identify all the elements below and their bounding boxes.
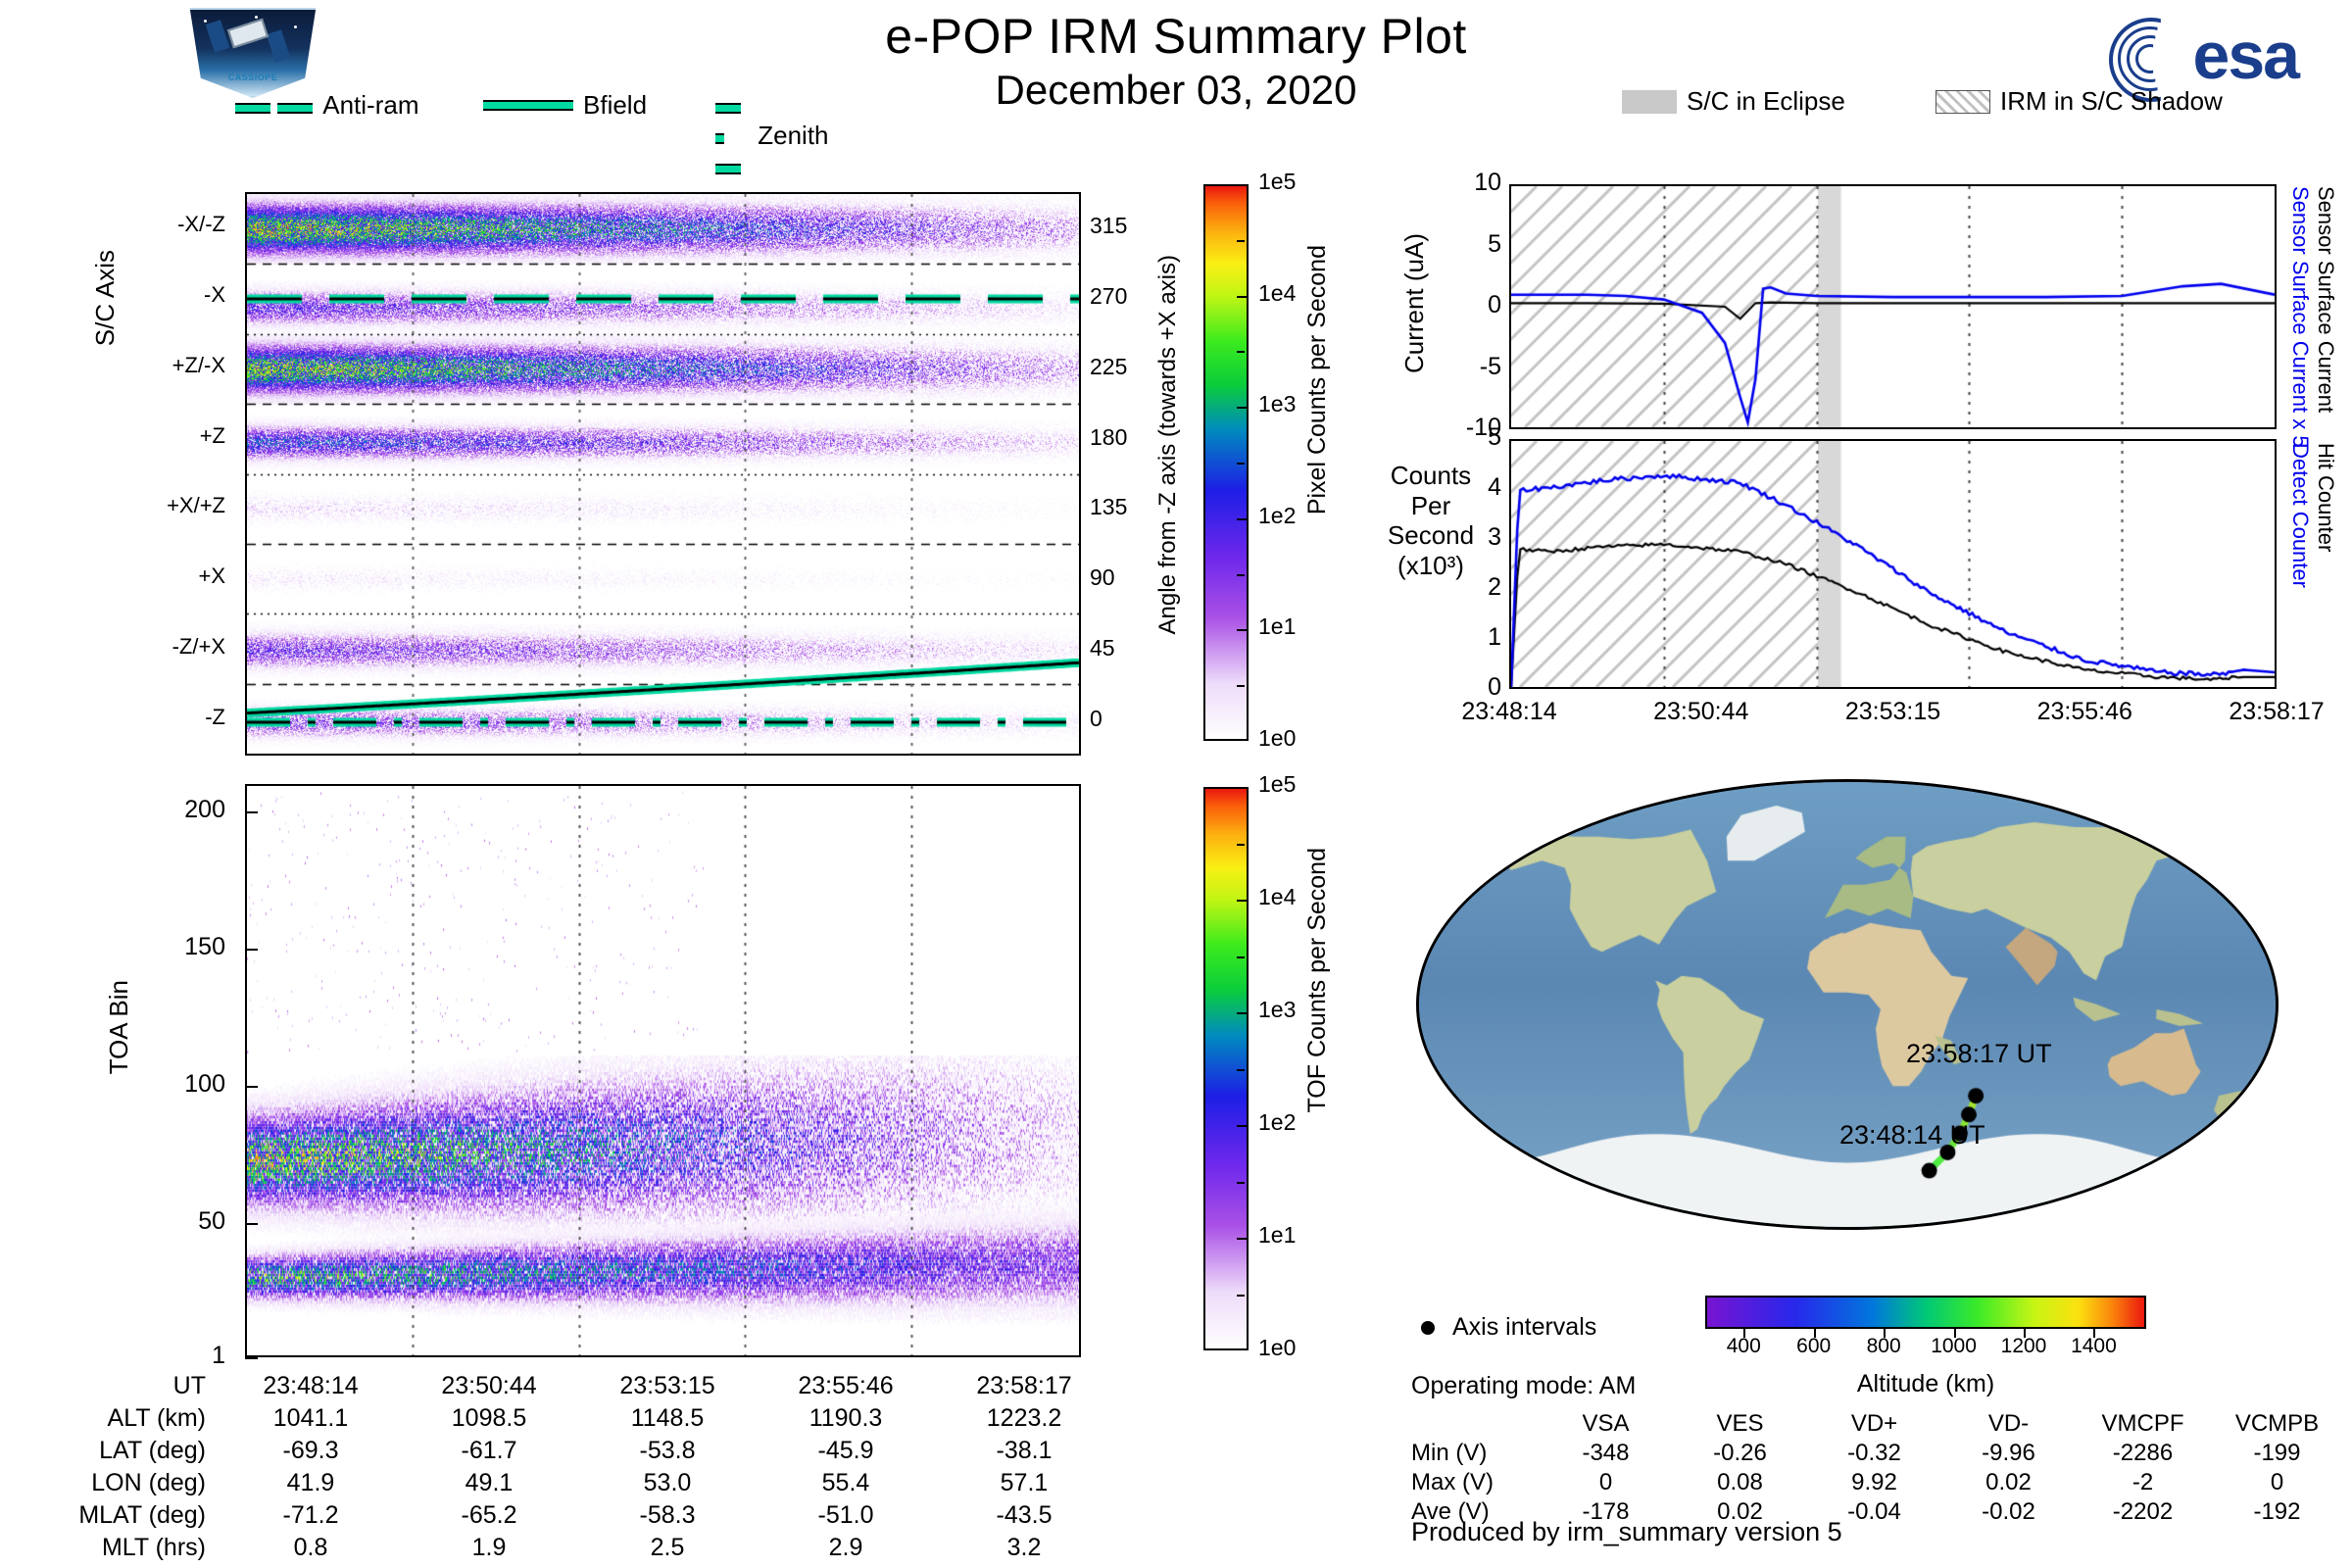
colorbar-tick-label: 1e2 xyxy=(1258,1109,1296,1136)
voltage-header-row: VSAVESVD+VD-VMCPFVCMPB xyxy=(1411,1409,2344,1439)
sc-axis-ytick-label: +X xyxy=(29,563,225,589)
legend-item-irm-shadow: IRM in S/C Shadow xyxy=(1935,86,2223,117)
sc-axis-right-tick-label: 270 xyxy=(1090,283,1149,310)
voltage-cell: 0 xyxy=(1539,1468,1673,1497)
altitude-tick-label: 1000 xyxy=(1925,1335,1984,1358)
dashdot-line-icon xyxy=(715,90,748,181)
current-ytick-label: 10 xyxy=(1411,169,1501,197)
voltage-cell: -2202 xyxy=(2076,1497,2210,1527)
toa-bin-ytick-label: 50 xyxy=(59,1207,225,1236)
ephemeris-cell: -43.5 xyxy=(935,1499,1113,1532)
ephemeris-cell: -45.9 xyxy=(757,1435,935,1467)
counts-ytick-label: 1 xyxy=(1423,623,1501,652)
toa-bin-spectrogram[interactable] xyxy=(245,784,1081,1357)
patch-caption: CASSIOPE xyxy=(186,73,319,82)
altitude-tick-label: 1200 xyxy=(1994,1335,2053,1358)
legend-label-eclipse: S/C in Eclipse xyxy=(1687,86,1845,117)
solid-line-icon xyxy=(483,100,573,111)
colorbar-minor-tick xyxy=(1237,351,1245,353)
colorbar-tick-label: 1e5 xyxy=(1258,771,1296,798)
colorbar-tick-label: 1e4 xyxy=(1258,280,1296,307)
sc-axis-right-tick-label: 135 xyxy=(1090,494,1149,520)
ephemeris-cell: -71.2 xyxy=(221,1499,400,1532)
ephemeris-row-label: ALT (km) xyxy=(20,1402,221,1435)
pixel-counts-colorbar-label: Pixel Counts per Second xyxy=(1303,245,1332,514)
altitude-tick-label: 800 xyxy=(1854,1335,1913,1358)
toa-bin-ytick-label: 100 xyxy=(59,1070,225,1099)
toa-bin-ytick-label: 150 xyxy=(59,933,225,961)
ephemeris-cell: 23:58:17 xyxy=(935,1370,1113,1402)
ephemeris-cell: 1041.1 xyxy=(221,1402,400,1435)
colorbar-tick-label: 1e1 xyxy=(1258,613,1296,640)
altitude-colorbar xyxy=(1705,1296,2146,1329)
voltage-cell: 0.02 xyxy=(1941,1468,2076,1497)
voltage-row: Min (V)-348-0.26-0.32-9.96-2286-199 xyxy=(1411,1439,2344,1468)
ephemeris-cell: 1148.5 xyxy=(578,1402,757,1435)
ephemeris-row-label: MLAT (deg) xyxy=(20,1499,221,1532)
voltage-cell: -348 xyxy=(1539,1439,1673,1468)
ephemeris-cell: -53.8 xyxy=(578,1435,757,1467)
counts-ytick-label: 2 xyxy=(1423,573,1501,602)
counts-ytick-label: 5 xyxy=(1423,423,1501,452)
toa-bin-ytick-label: 1 xyxy=(59,1342,225,1370)
legend-label-anti-ram: Anti-ram xyxy=(322,90,418,121)
altitude-colorbar-label: Altitude (km) xyxy=(1705,1370,2146,1398)
ephemeris-cell: -61.7 xyxy=(400,1435,578,1467)
shadow-swatch-icon xyxy=(1935,90,1990,114)
voltage-column-header: VMCPF xyxy=(2076,1409,2210,1439)
colorbar-minor-tick xyxy=(1237,574,1245,576)
voltage-cell: -9.96 xyxy=(1941,1439,2076,1468)
ephemeris-row: UT23:48:1423:50:4423:53:1523:55:4623:58:… xyxy=(20,1370,1113,1402)
altitude-tick-mark xyxy=(1814,1329,1816,1338)
map-end-time-label: 23:58:17 UT xyxy=(1906,1039,2052,1069)
ephemeris-row-label: MLT (hrs) xyxy=(20,1532,221,1564)
legend-item-zenith: Zenith xyxy=(715,90,829,181)
legend-item-anti-ram: Anti-ram xyxy=(235,90,418,121)
ephemeris-cell: 1.9 xyxy=(400,1532,578,1564)
counts-plot[interactable] xyxy=(1509,439,2277,689)
ephemeris-cell: 49.1 xyxy=(400,1467,578,1499)
cassiope-mission-patch: CASSIOPE xyxy=(184,8,321,98)
operating-mode-label: Operating mode: AM xyxy=(1411,1372,1636,1400)
voltage-table: VSAVESVD+VD-VMCPFVCMPBMin (V)-348-0.26-0… xyxy=(1411,1409,2344,1527)
voltage-row-label: Max (V) xyxy=(1411,1468,1539,1497)
colorbar-tick-label: 1e3 xyxy=(1258,997,1296,1023)
voltage-cell: 0.08 xyxy=(1673,1468,1807,1497)
toa-bin-tick-mark xyxy=(245,811,258,813)
legend-orientation: Anti-ram Bfield Zenith xyxy=(235,90,784,123)
ephemeris-cell: -65.2 xyxy=(400,1499,578,1532)
colorbar-tick-mark xyxy=(1237,900,1248,902)
ephemeris-cell: 2.9 xyxy=(757,1532,935,1564)
colorbar-tick-label: 1e5 xyxy=(1258,169,1296,195)
toa-bin-tick-mark xyxy=(245,1223,258,1225)
current-right-label-blue: Sensor Surface Current x 5 xyxy=(2287,186,2313,448)
altitude-tick-mark xyxy=(1743,1329,1745,1338)
toa-bin-ylabel: TOA Bin xyxy=(104,980,134,1074)
counts-right-label-black: Hit Counter xyxy=(2313,443,2338,552)
voltage-row-label: Min (V) xyxy=(1411,1439,1539,1468)
dot-icon xyxy=(1421,1321,1435,1335)
legend-label-zenith: Zenith xyxy=(758,121,828,151)
colorbar-tick-label: 1e1 xyxy=(1258,1222,1296,1249)
sc-axis-ytick-label: +X/+Z xyxy=(29,493,225,518)
toa-bin-tick-mark xyxy=(245,949,258,951)
ephemeris-cell: 57.1 xyxy=(935,1467,1113,1499)
ephemeris-row-label: LAT (deg) xyxy=(20,1435,221,1467)
ephemeris-cell: 1098.5 xyxy=(400,1402,578,1435)
ephemeris-cell: 55.4 xyxy=(757,1467,935,1499)
altitude-tick-label: 400 xyxy=(1714,1335,1773,1358)
voltage-cell: -192 xyxy=(2210,1497,2344,1527)
voltage-header-blank xyxy=(1411,1409,1539,1439)
voltage-cell: -0.26 xyxy=(1673,1439,1807,1468)
sc-axis-right-tick-label: 0 xyxy=(1090,706,1149,732)
axis-intervals-legend: Axis intervals xyxy=(1421,1313,1596,1342)
sc-axis-right-ylabel: Angle from -Z axis (towards +X axis) xyxy=(1154,255,1182,634)
colorbar-minor-tick xyxy=(1237,1182,1245,1184)
current-right-label-black: Sensor Surface Current xyxy=(2313,186,2338,413)
sc-axis-ytick-label: -Z/+X xyxy=(29,634,225,660)
voltage-cell: -199 xyxy=(2210,1439,2344,1468)
colorbar-minor-tick xyxy=(1237,844,1245,846)
colorbar-tick-mark xyxy=(1237,1012,1248,1014)
counts-xtick-label: 23:53:15 xyxy=(1805,698,1982,726)
sc-axis-ytick-label: -X/-Z xyxy=(29,212,225,237)
legend-shadow: S/C in Eclipse IRM in S/C Shadow xyxy=(1529,86,2274,120)
ephemeris-cell: 0.8 xyxy=(221,1532,400,1564)
ephemeris-cell: 53.0 xyxy=(578,1467,757,1499)
voltage-row: Max (V)00.089.920.02-20 xyxy=(1411,1468,2344,1497)
colorbar-minor-tick xyxy=(1237,1069,1245,1071)
sc-axis-right-tick-label: 315 xyxy=(1090,213,1149,239)
dashed-line-icon xyxy=(235,90,313,121)
voltage-cell: -0.02 xyxy=(1941,1497,2076,1527)
ephemeris-row-label: UT xyxy=(20,1370,221,1402)
altitude-tick-mark xyxy=(2024,1329,2026,1338)
sc-axis-ytick-label: -Z xyxy=(29,705,225,730)
counts-ytick-label: 4 xyxy=(1423,473,1501,502)
colorbar-tick-label: 1e0 xyxy=(1258,725,1296,752)
ground-track-map[interactable]: 23:58:17 UT 23:48:14 UT xyxy=(1416,779,2278,1230)
colorbar-minor-tick xyxy=(1237,956,1245,958)
colorbar-minor-tick xyxy=(1237,240,1245,242)
voltage-column-header: VCMPB xyxy=(2210,1409,2344,1439)
voltage-column-header: VD+ xyxy=(1807,1409,1941,1439)
ephemeris-cell: 1223.2 xyxy=(935,1402,1113,1435)
legend-item-bfield: Bfield xyxy=(483,90,647,121)
colorbar-tick-mark xyxy=(1237,629,1248,631)
ephemeris-cell: 23:50:44 xyxy=(400,1370,578,1402)
colorbar-tick-mark xyxy=(1237,1125,1248,1127)
ephemeris-row: MLT (hrs)0.81.92.52.93.2 xyxy=(20,1532,1113,1564)
legend-label-irm-shadow: IRM in S/C Shadow xyxy=(2000,86,2223,117)
counts-right-label-blue: Detect Counter xyxy=(2287,443,2313,588)
legend-item-eclipse: S/C in Eclipse xyxy=(1622,86,1845,117)
ephemeris-cell: 41.9 xyxy=(221,1467,400,1499)
ephemeris-cell: -69.3 xyxy=(221,1435,400,1467)
ephemeris-table: UT23:48:1423:50:4423:53:1523:55:4623:58:… xyxy=(20,1370,1113,1564)
voltage-cell: -2 xyxy=(2076,1468,2210,1497)
voltage-cell: 9.92 xyxy=(1807,1468,1941,1497)
voltage-column-header: VD- xyxy=(1941,1409,2076,1439)
sc-axis-spectrogram[interactable] xyxy=(245,192,1081,756)
current-plot[interactable] xyxy=(1509,184,2277,429)
ephemeris-cell: 2.5 xyxy=(578,1532,757,1564)
altitude-tick-mark xyxy=(1884,1329,1886,1338)
current-ytick-label: 5 xyxy=(1411,230,1501,259)
sc-axis-right-tick-label: 90 xyxy=(1090,564,1149,591)
voltage-cell: -2286 xyxy=(2076,1439,2210,1468)
altitude-tick-label: 600 xyxy=(1785,1335,1843,1358)
ephemeris-cell: 23:55:46 xyxy=(757,1370,935,1402)
current-ytick-label: 0 xyxy=(1411,291,1501,319)
colorbar-minor-tick xyxy=(1237,685,1245,687)
colorbar-minor-tick xyxy=(1237,463,1245,465)
esa-arcs-icon xyxy=(2109,18,2185,94)
sc-axis-ytick-label: -X xyxy=(29,282,225,308)
counts-xtick-label: 23:50:44 xyxy=(1613,698,1789,726)
ephemeris-cell: -38.1 xyxy=(935,1435,1113,1467)
altitude-tick-mark xyxy=(2093,1329,2095,1338)
toa-bin-tick-mark xyxy=(245,1086,258,1088)
ephemeris-row-label: LON (deg) xyxy=(20,1467,221,1499)
colorbar-tick-label: 1e4 xyxy=(1258,884,1296,910)
legend-label-bfield: Bfield xyxy=(583,90,647,121)
ephemeris-cell: 23:48:14 xyxy=(221,1370,400,1402)
ephemeris-cell: 23:53:15 xyxy=(578,1370,757,1402)
voltage-cell: -0.32 xyxy=(1807,1439,1941,1468)
ephemeris-row: LAT (deg)-69.3-61.7-53.8-45.9-38.1 xyxy=(20,1435,1113,1467)
altitude-tick-mark xyxy=(1954,1329,1956,1338)
sc-axis-right-tick-label: 180 xyxy=(1090,424,1149,451)
colorbar-tick-mark xyxy=(1237,296,1248,298)
esa-wordmark: esa xyxy=(2193,18,2298,94)
counts-xtick-label: 23:48:14 xyxy=(1421,698,1597,726)
current-ytick-label: -5 xyxy=(1411,353,1501,381)
colorbar-minor-tick xyxy=(1237,1295,1245,1297)
colorbar-tick-mark xyxy=(1237,407,1248,409)
produced-by-label: Produced by irm_summary version 5 xyxy=(1411,1517,1842,1547)
tof-counts-colorbar-label: TOF Counts per Second xyxy=(1303,848,1332,1113)
colorbar-tick-label: 1e0 xyxy=(1258,1335,1296,1361)
voltage-cell: 0 xyxy=(2210,1468,2344,1497)
counts-ytick-label: 3 xyxy=(1423,523,1501,552)
ephemeris-cell: -58.3 xyxy=(578,1499,757,1532)
sc-axis-ytick-label: +Z xyxy=(29,423,225,449)
colorbar-tick-label: 1e3 xyxy=(1258,391,1296,417)
voltage-column-header: VSA xyxy=(1539,1409,1673,1439)
ephemeris-cell: -51.0 xyxy=(757,1499,935,1532)
counts-xtick-label: 23:55:46 xyxy=(1996,698,2173,726)
sc-axis-right-tick-label: 225 xyxy=(1090,354,1149,380)
eclipse-swatch-icon xyxy=(1622,90,1677,114)
colorbar-tick-mark xyxy=(1237,1238,1248,1240)
colorbar-tick-label: 1e2 xyxy=(1258,503,1296,529)
ephemeris-row: LON (deg)41.949.153.055.457.1 xyxy=(20,1467,1113,1499)
ephemeris-row: ALT (km)1041.11098.51148.51190.31223.2 xyxy=(20,1402,1113,1435)
voltage-column-header: VES xyxy=(1673,1409,1807,1439)
page-title: e-POP IRM Summary Plot xyxy=(0,8,2352,65)
sc-axis-ytick-label: +Z/-X xyxy=(29,353,225,378)
sc-axis-right-tick-label: 45 xyxy=(1090,635,1149,661)
ephemeris-row: MLAT (deg)-71.2-65.2-58.3-51.0-43.5 xyxy=(20,1499,1113,1532)
counts-xtick-label: 23:58:17 xyxy=(2188,698,2352,726)
ephemeris-cell: 1190.3 xyxy=(757,1402,935,1435)
toa-bin-tick-mark xyxy=(245,1357,258,1359)
globe-projection xyxy=(1416,779,2278,1230)
colorbar-tick-mark xyxy=(1237,518,1248,520)
ephemeris-cell: 3.2 xyxy=(935,1532,1113,1564)
map-start-time-label: 23:48:14 UT xyxy=(1839,1120,1985,1151)
altitude-tick-label: 1400 xyxy=(2064,1335,2123,1358)
axis-intervals-label: Axis intervals xyxy=(1452,1313,1596,1342)
toa-bin-ytick-label: 200 xyxy=(59,796,225,824)
